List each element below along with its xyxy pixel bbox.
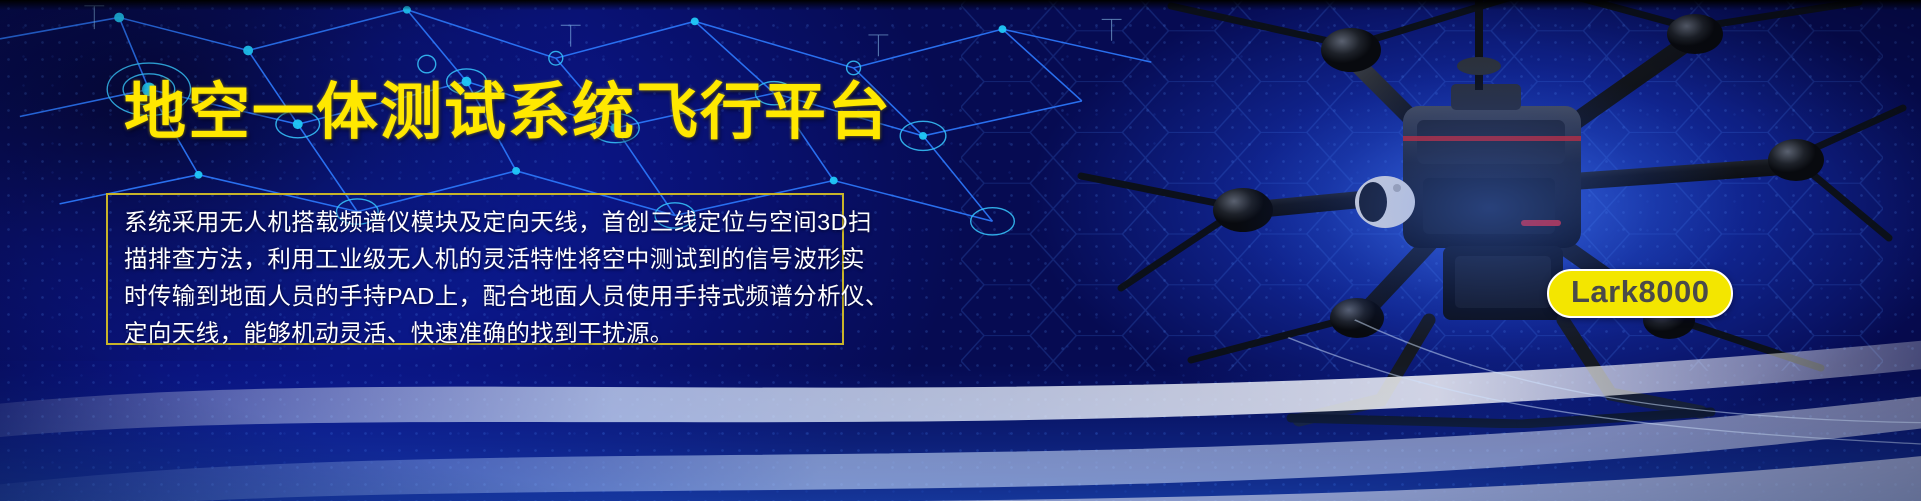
description-line-1: 系统采用无人机搭载频谱仪模块及定向天线，首创三线定位与空间3D扫 [124,204,826,241]
product-model-badge: Lark8000 [1547,269,1733,318]
description-line-4: 定向天线，能够机动灵活、快速准确的找到干扰源。 [124,315,826,352]
description-line-3: 时传输到地面人员的手持PAD上，配合地面人员使用手持式频谱分析仪、 [124,278,826,315]
description-box: 系统采用无人机搭载频谱仪模块及定向天线，首创三线定位与空间3D扫 描排查方法，利… [106,193,844,345]
description-line-2: 描排查方法，利用工业级无人机的灵活特性将空中测试到的信号波形实 [124,241,826,278]
top-fade [0,0,1921,10]
promo-banner: 地空一体测试系统飞行平台 系统采用无人机搭载频谱仪模块及定向天线，首创三线定位与… [0,0,1921,501]
banner-headline: 地空一体测试系统飞行平台 [124,82,892,144]
